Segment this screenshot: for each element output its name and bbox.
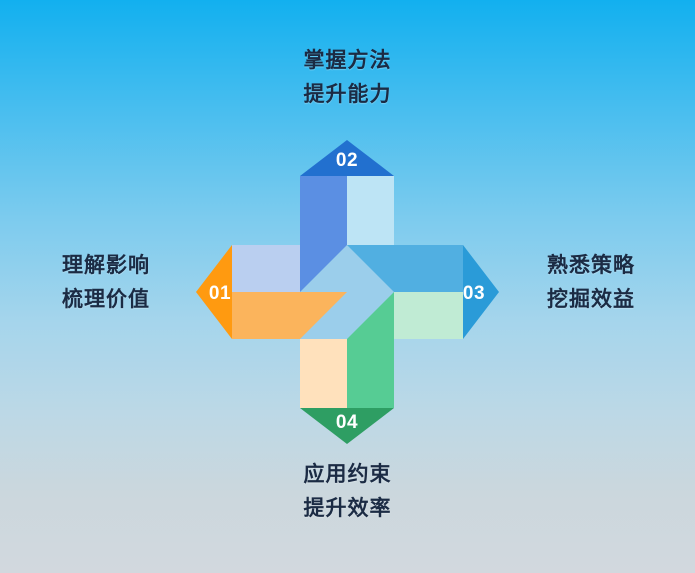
step-01-number: 01 xyxy=(209,283,231,304)
step-01-tile-cell xyxy=(232,245,300,292)
step-03-caption: 熟悉策略 挖掘效益 xyxy=(511,249,671,317)
step-04-caption-line2: 提升效率 xyxy=(0,492,695,526)
step-04-number: 04 xyxy=(336,412,358,433)
step-03-caption-line2: 挖掘效益 xyxy=(511,283,671,317)
step-04-caption-line1: 应用约束 xyxy=(0,458,695,492)
step-04-tile-cell xyxy=(300,339,347,408)
step-03-caption-line1: 熟悉策略 xyxy=(511,249,671,283)
slide-canvas: 02 03 04 01 xyxy=(0,0,695,573)
step-02-tile-cell xyxy=(347,176,394,245)
step-02-caption-line1: 掌握方法 xyxy=(0,44,695,78)
step-01-caption-line1: 理解影响 xyxy=(26,249,186,283)
step-01-caption-line2: 梳理价值 xyxy=(26,283,186,317)
step-02-caption: 掌握方法 提升能力 xyxy=(0,44,695,112)
step-02-caption-line2: 提升能力 xyxy=(0,78,695,112)
step-04-caption: 应用约束 提升效率 xyxy=(0,458,695,526)
step-02-number: 02 xyxy=(336,150,358,171)
step-03-tile-cell xyxy=(394,292,463,339)
step-03-number: 03 xyxy=(463,283,485,304)
step-01-caption: 理解影响 梳理价值 xyxy=(26,249,186,317)
